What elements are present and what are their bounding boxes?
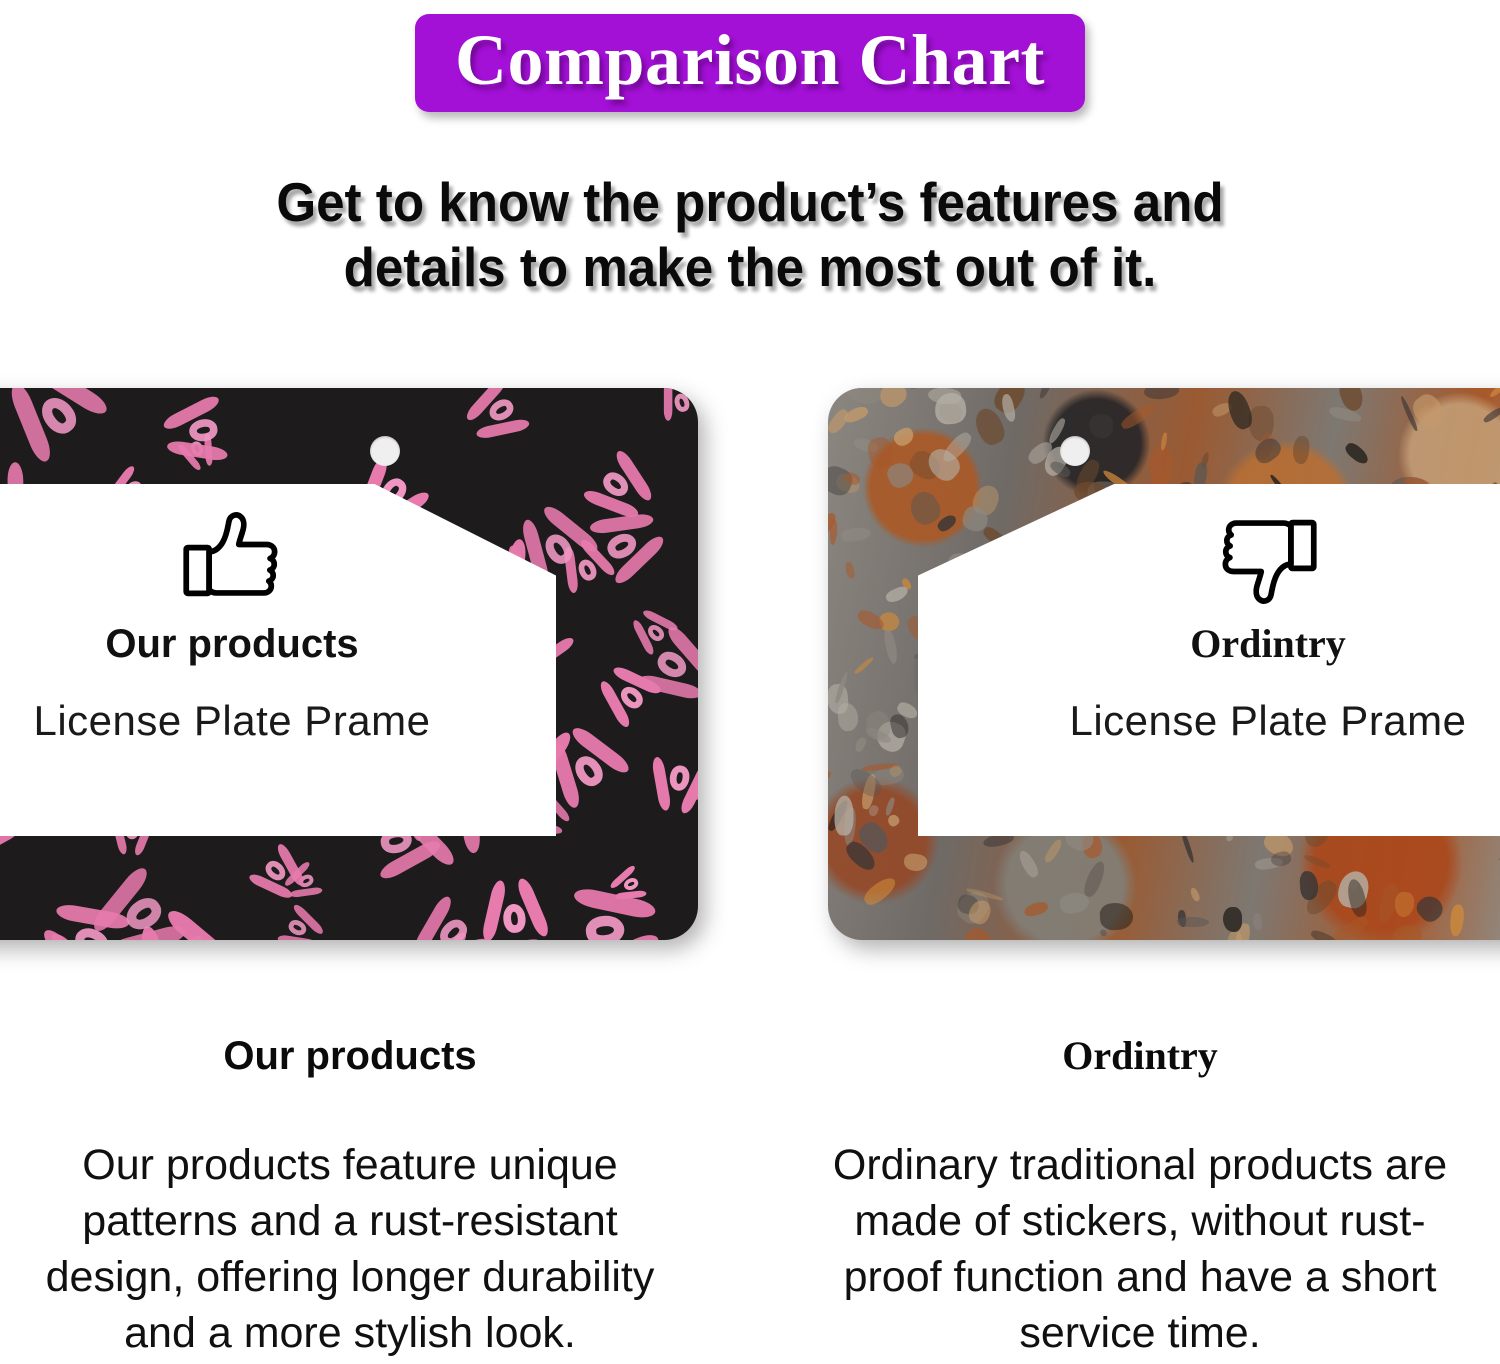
rust-speck xyxy=(1392,923,1424,940)
rust-speck xyxy=(828,769,832,782)
rust-speck xyxy=(1177,917,1209,927)
rust-speck xyxy=(961,923,994,940)
page-subtitle: Get to know the product’s features and d… xyxy=(53,170,1448,300)
pink-ribbon-motif xyxy=(583,453,655,520)
rust-speck xyxy=(891,425,916,449)
rust-speck xyxy=(1023,900,1049,918)
rust-speck xyxy=(1043,838,1065,865)
our-product-window-content: Our products License Plate Prame xyxy=(0,484,556,836)
ordinary-product-column-heading: Ordintry xyxy=(790,1036,1490,1076)
mounting-hole xyxy=(370,436,400,466)
rust-speck xyxy=(844,561,855,579)
pink-ribbon-motif xyxy=(411,898,489,940)
rust-speck xyxy=(1343,440,1371,466)
pink-ribbon-motif xyxy=(276,908,325,940)
rust-speck xyxy=(842,404,870,425)
ordinary-product-brand-label: Ordintry xyxy=(1190,624,1346,664)
rust-speck xyxy=(1143,388,1180,402)
mounting-hole xyxy=(1060,436,1090,466)
thumbs-down-icon xyxy=(1215,506,1321,610)
rust-speck xyxy=(835,796,854,836)
rust-speck xyxy=(884,584,910,604)
comparison-chart-page: Comparison Chart Get to know the product… xyxy=(0,0,1500,1364)
rust-speck xyxy=(1299,870,1319,900)
pink-ribbon-motif xyxy=(662,388,698,425)
rust-speck xyxy=(1189,887,1201,903)
subtitle-line-1: Get to know the product’s features and xyxy=(53,170,1448,235)
rust-speck xyxy=(1088,413,1114,439)
rust-speck xyxy=(1180,832,1195,864)
rust-speck xyxy=(1016,848,1041,879)
product-frames-row: Our products License Plate Prame xyxy=(0,388,1500,958)
ordinary-product-frame: Ordintry License Plate Prame xyxy=(828,388,1500,940)
rust-speck xyxy=(829,520,837,545)
rust-speck xyxy=(853,736,868,753)
title-banner-wrap: Comparison Chart xyxy=(0,14,1500,112)
ordinary-product-window-content: Ordintry License Plate Prame xyxy=(918,484,1500,836)
rust-speck xyxy=(1119,400,1158,432)
pink-ribbon-motif xyxy=(7,388,105,462)
our-product-column-body: Our products feature unique patterns and… xyxy=(0,1138,700,1362)
our-product-column-heading: Our products xyxy=(0,1036,700,1076)
pink-ribbon-motif xyxy=(609,869,648,901)
rust-speck xyxy=(840,526,872,544)
our-product-brand-label: Our products xyxy=(105,624,358,664)
rust-speck xyxy=(1099,902,1133,931)
rust-speck xyxy=(843,388,883,405)
rust-speck xyxy=(1252,913,1263,931)
ordinary-product-column: Ordintry Ordinary traditional products a… xyxy=(790,1036,1490,1362)
our-product-column: Our products Our products feature unique… xyxy=(0,1036,700,1362)
rust-speck xyxy=(1413,891,1448,926)
rust-speck xyxy=(1081,859,1107,899)
pink-ribbon-motif xyxy=(563,900,660,940)
rust-speck xyxy=(1099,928,1108,937)
rust-speck xyxy=(903,852,928,872)
rust-speck xyxy=(1449,904,1465,937)
rust-speck xyxy=(1223,907,1242,932)
rust-speck xyxy=(1330,914,1370,940)
thumbs-up-icon xyxy=(179,506,285,610)
rust-speck xyxy=(1291,435,1310,465)
pink-ribbon-motif xyxy=(670,928,698,940)
pink-ribbon-motif xyxy=(464,388,532,441)
ordinary-product-column-body: Ordinary traditional products are made o… xyxy=(790,1138,1490,1362)
rust-speck xyxy=(1303,853,1332,870)
rust-speck xyxy=(853,656,874,676)
pink-ribbon-motif xyxy=(492,879,536,940)
our-product-frame: Our products License Plate Prame xyxy=(0,388,698,940)
subtitle-line-2: details to make the most out of it. xyxy=(53,235,1448,300)
pink-ribbon-motif xyxy=(90,874,189,940)
rust-speck xyxy=(861,873,899,908)
our-product-product-label: License Plate Prame xyxy=(33,700,430,742)
title-banner: Comparison Chart xyxy=(415,14,1085,112)
plate-window-right: Ordintry License Plate Prame xyxy=(918,484,1500,836)
pink-ribbon-motif xyxy=(658,750,698,814)
rust-speck xyxy=(1038,388,1054,400)
pink-ribbon-motif xyxy=(163,407,236,454)
rust-speck xyxy=(883,629,900,664)
rust-speck xyxy=(1489,388,1500,399)
description-columns: Our products Our products feature unique… xyxy=(0,1036,1500,1364)
page-title: Comparison Chart xyxy=(455,24,1045,96)
rust-speck xyxy=(1482,405,1500,424)
plate-window-left: Our products License Plate Prame xyxy=(0,484,556,836)
ordinary-product-product-label: License Plate Prame xyxy=(1069,700,1466,742)
rust-speck xyxy=(1394,892,1414,918)
